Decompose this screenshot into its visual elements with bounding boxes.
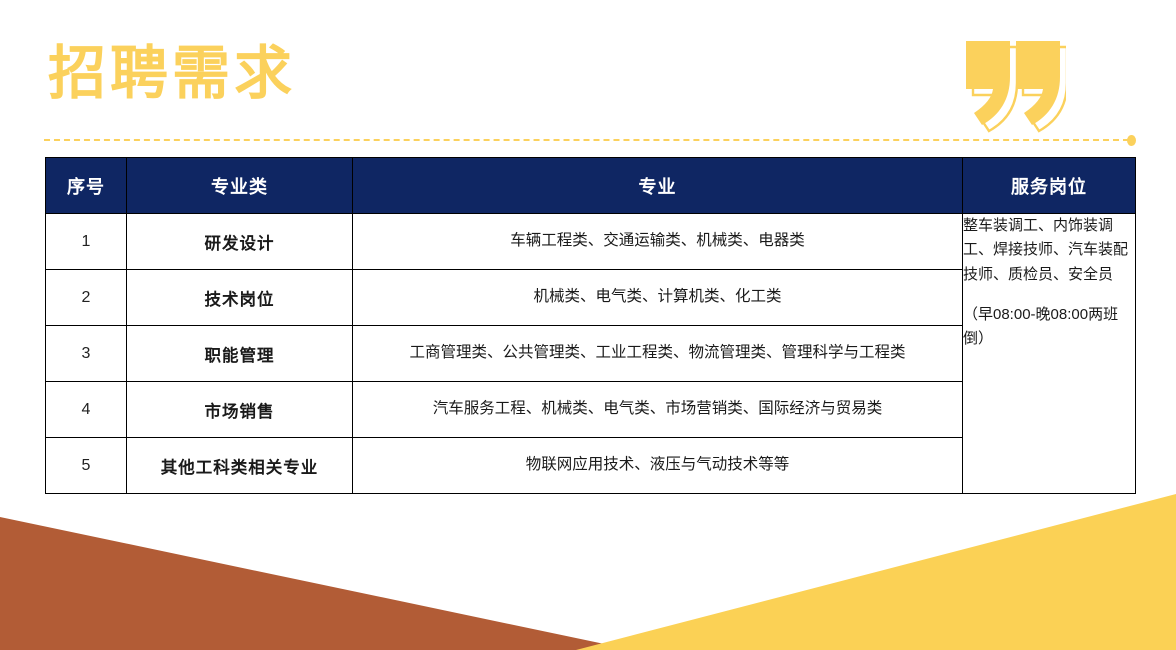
table-row: 1 研发设计 车辆工程类、交通运输类、机械类、电器类 整车装调工、内饰装调工、焊… [46,214,1136,270]
recruitment-table: 序号 专业类 专业 服务岗位 1 研发设计 车辆工程类、交通运输类、机械类、电器… [45,157,1136,494]
bottom-decoration [0,490,1176,650]
cell-service-posts: 整车装调工、内饰装调工、焊接技师、汽车装配技师、质检员、安全员 （早08:00-… [963,214,1136,494]
page-title: 招聘需求 [48,44,296,105]
rule-end-dot-icon [1127,135,1136,146]
cell-index: 3 [46,326,127,382]
cell-category: 研发设计 [127,214,353,270]
column-header-category: 专业类 [127,158,353,214]
service-post-note: （早08:00-晚08:00两班倒） [963,303,1135,352]
cell-index: 4 [46,382,127,438]
column-header-index: 序号 [46,158,127,214]
cell-category: 职能管理 [127,326,353,382]
table-header-row: 序号 专业类 专业 服务岗位 [46,158,1136,214]
cell-majors: 车辆工程类、交通运输类、机械类、电器类 [353,214,963,270]
cell-index: 1 [46,214,127,270]
brown-triangle-shape [0,517,633,650]
slide-canvas: 招聘需求 序号 专业类 专业 服务岗位 1 研发设计 [0,0,1176,650]
cell-index: 2 [46,270,127,326]
table-header: 序号 专业类 专业 服务岗位 [46,158,1136,214]
cell-category: 其他工科类相关专业 [127,438,353,494]
dashed-line [44,139,1129,141]
cell-index: 5 [46,438,127,494]
cell-category: 市场销售 [127,382,353,438]
cell-category: 技术岗位 [127,270,353,326]
service-post-list: 整车装调工、内饰装调工、焊接技师、汽车装配技师、质检员、安全员 [963,214,1135,287]
double-quote-icon [948,33,1066,133]
divider-rule [44,132,1136,148]
cell-majors: 汽车服务工程、机械类、电气类、市场营销类、国际经济与贸易类 [353,382,963,438]
cell-majors: 工商管理类、公共管理类、工业工程类、物流管理类、管理科学与工程类 [353,326,963,382]
cell-majors: 机械类、电气类、计算机类、化工类 [353,270,963,326]
table-body: 1 研发设计 车辆工程类、交通运输类、机械类、电器类 整车装调工、内饰装调工、焊… [46,214,1136,494]
recruitment-table-container: 序号 专业类 专业 服务岗位 1 研发设计 车辆工程类、交通运输类、机械类、电器… [45,157,1135,488]
yellow-triangle-shape [576,494,1176,650]
column-header-major: 专业 [353,158,963,214]
column-header-post: 服务岗位 [963,158,1136,214]
cell-majors: 物联网应用技术、液压与气动技术等等 [353,438,963,494]
